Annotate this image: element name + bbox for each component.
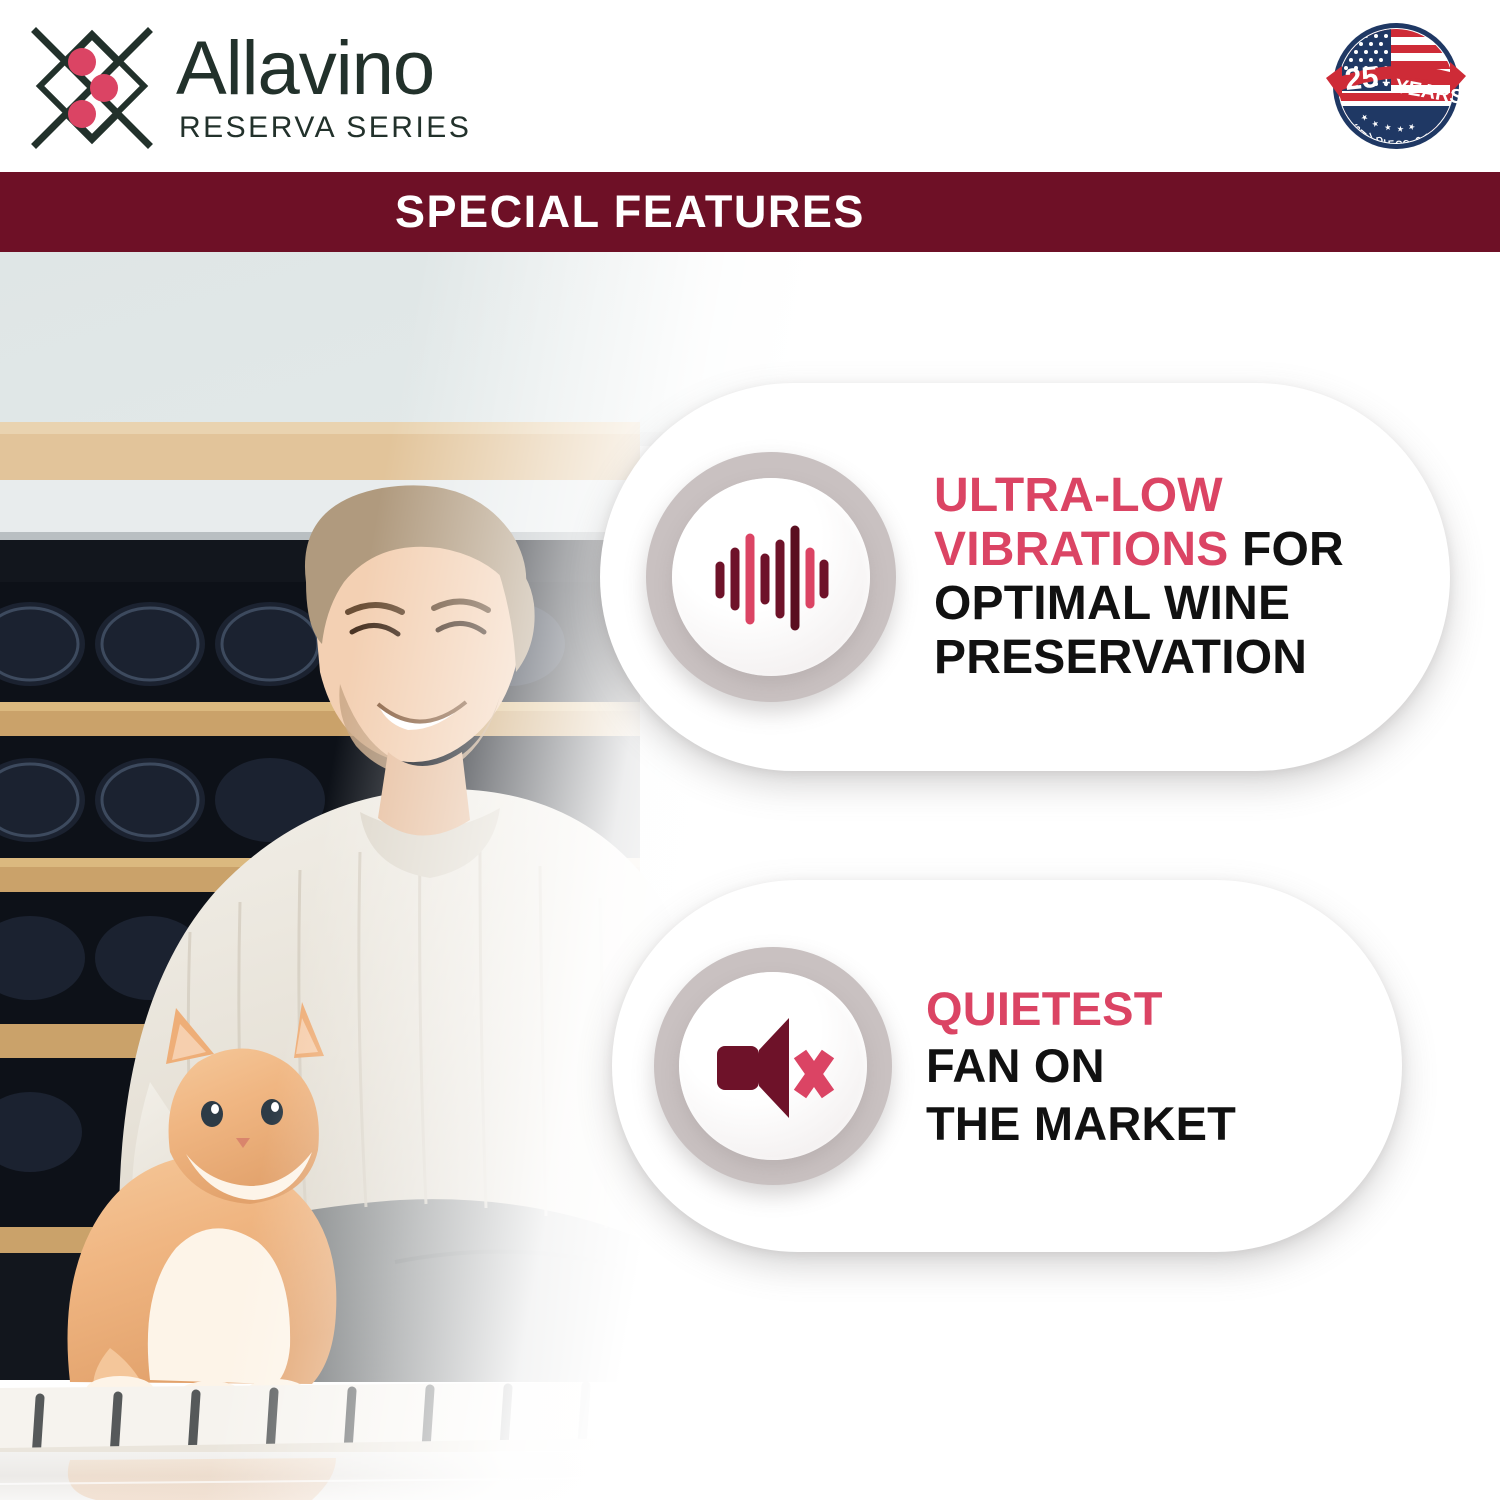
feature-line-1: ULTRA-LOW	[934, 469, 1344, 523]
vibration-icon-badge	[646, 452, 896, 702]
feature-card-ultra-low-vibrations[interactable]: ULTRA-LOW VIBRATIONS FOR OPTIMAL WINE PR…	[600, 383, 1450, 771]
page-header: Allavino RESERVA SERIES	[0, 0, 1500, 172]
feature-line-2-rest: FOR	[1228, 523, 1343, 576]
feature-line-1: QUIETEST	[926, 980, 1236, 1037]
feature-line-3: THE MARKET	[926, 1095, 1236, 1152]
brand-logo[interactable]: Allavino RESERVA SERIES	[22, 18, 471, 158]
feature-card-text: ULTRA-LOW VIBRATIONS FOR OPTIMAL WINE PR…	[934, 469, 1344, 686]
banner-title: SPECIAL FEATURES	[0, 186, 1500, 238]
feature-cards: ULTRA-LOW VIBRATIONS FOR OPTIMAL WINE PR…	[0, 252, 1500, 1500]
feature-line-3: OPTIMAL WINE	[934, 577, 1344, 631]
brand-name: Allavino	[176, 33, 471, 105]
vibration-waveform-icon	[708, 514, 834, 640]
usa-anniversary-badge-icon: ★ ★ ★ ★ ★ S A N D I E G O , C A 25	[1320, 14, 1472, 162]
feature-line-2: FAN ON	[926, 1037, 1236, 1094]
icon-inner-disc	[679, 972, 867, 1160]
feature-card-text: QUIETEST FAN ON THE MARKET	[926, 980, 1236, 1152]
mute-speaker-icon	[711, 1010, 835, 1122]
brand-series: RESERVA SERIES	[176, 111, 471, 145]
special-features-banner: SPECIAL FEATURES	[0, 172, 1500, 252]
svg-text:+: +	[1382, 74, 1391, 90]
allavino-diamond-logo-icon	[22, 18, 162, 158]
icon-inner-disc	[672, 478, 870, 676]
feature-card-quietest-fan[interactable]: QUIETEST FAN ON THE MARKET	[612, 880, 1402, 1252]
mute-icon-badge	[654, 947, 892, 1185]
svg-text:25: 25	[1343, 61, 1380, 97]
feature-line-2-accent: VIBRATIONS	[934, 523, 1228, 576]
feature-line-4: PRESERVATION	[934, 631, 1344, 685]
